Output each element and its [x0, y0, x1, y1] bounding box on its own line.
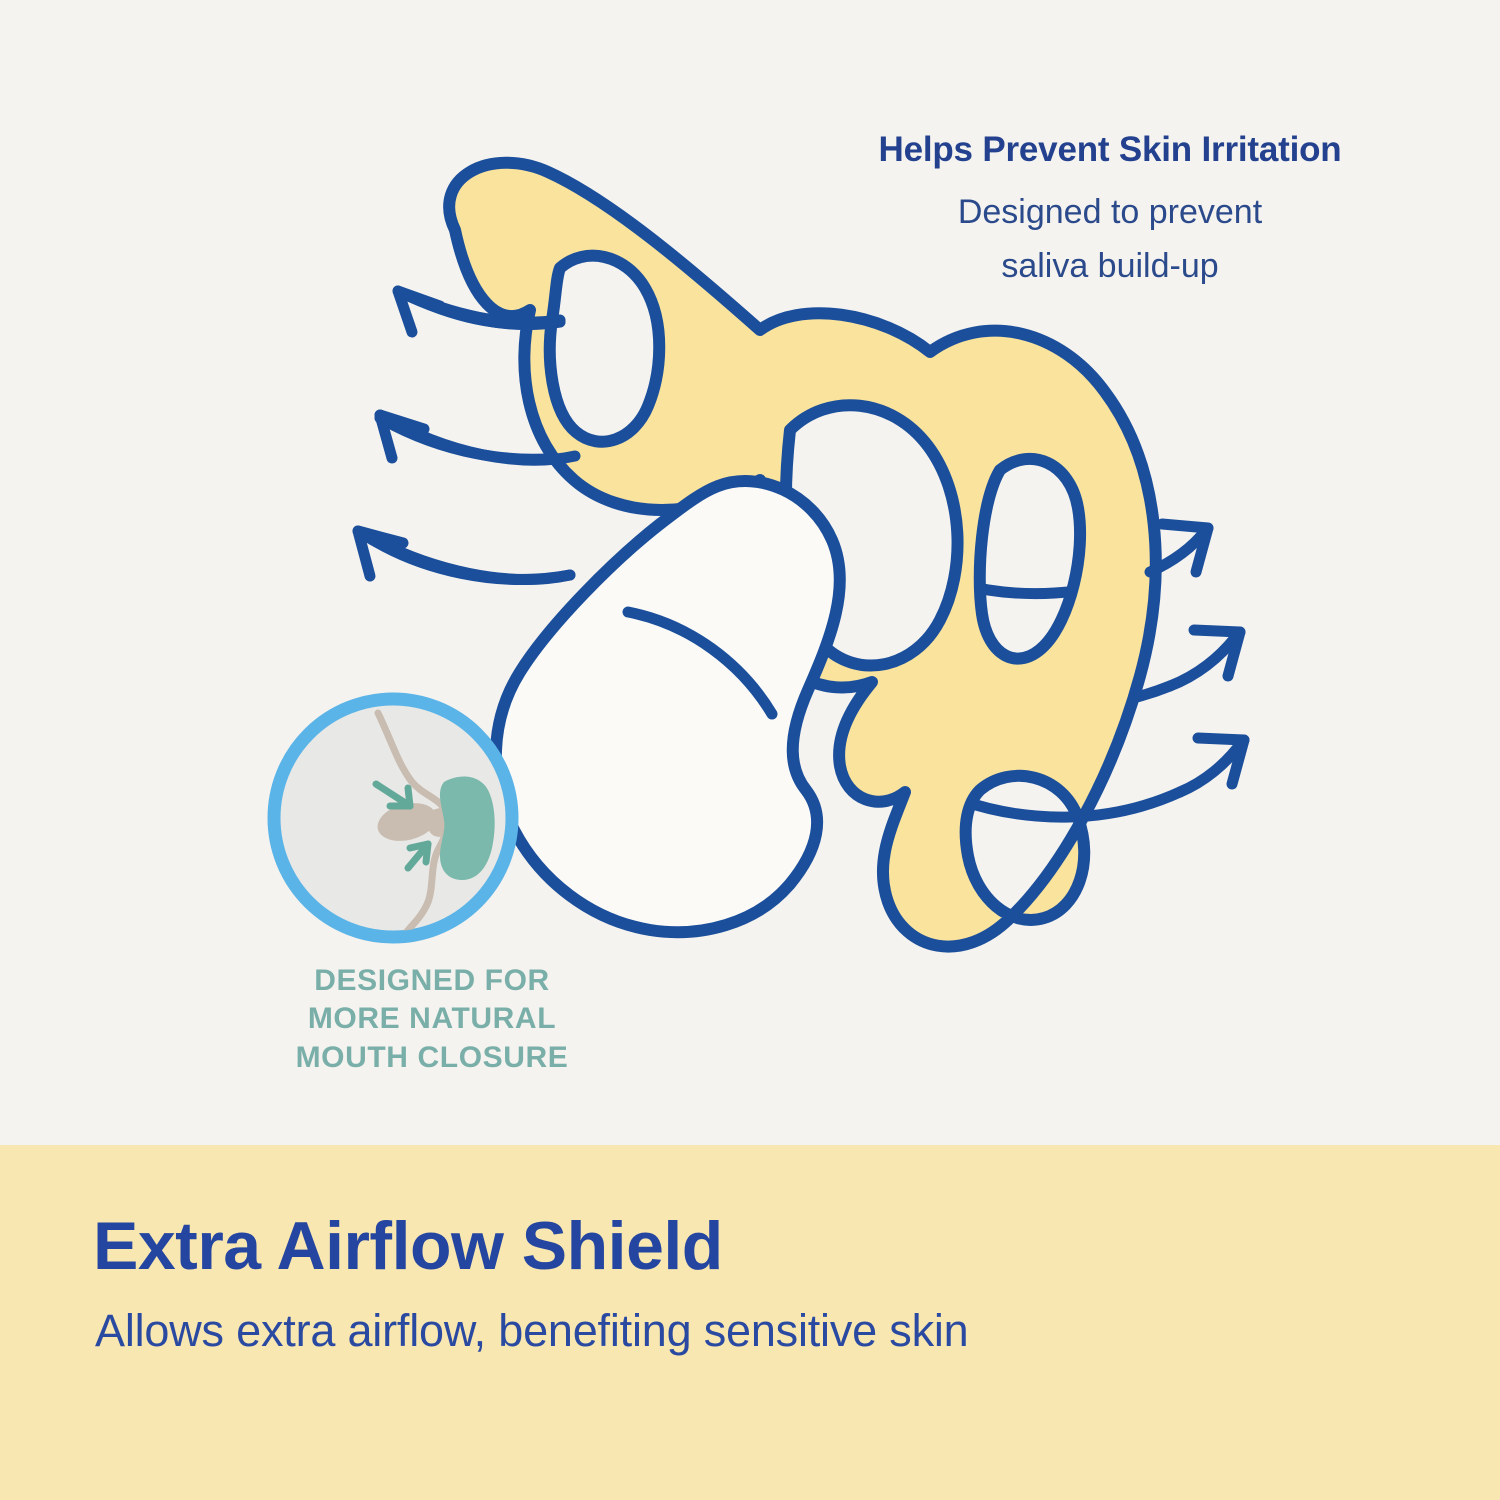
inset-caption-line-3: MOUTH CLOSURE: [232, 1039, 632, 1077]
bottom-banner: Extra Airflow Shield Allows extra airflo…: [0, 1145, 1500, 1500]
callout-body: Designed to prevent saliva build-up: [800, 185, 1420, 294]
inset-caption-line-1: DESIGNED FOR: [232, 962, 632, 1000]
callout-body-line-1: Designed to prevent: [800, 185, 1420, 239]
mouth-closure-inset: [274, 699, 512, 948]
banner-heading: Extra Airflow Shield: [93, 1207, 723, 1285]
product-infographic: Helps Prevent Skin Irritation Designed t…: [0, 0, 1500, 1500]
callout-skin-irritation: Helps Prevent Skin Irritation Designed t…: [800, 128, 1420, 294]
illustration-area: Helps Prevent Skin Irritation Designed t…: [0, 0, 1500, 1145]
inset-caption-line-2: MORE NATURAL: [232, 1000, 632, 1038]
callout-title: Helps Prevent Skin Irritation: [800, 128, 1420, 173]
inset-caption: DESIGNED FOR MORE NATURAL MOUTH CLOSURE: [232, 962, 632, 1077]
airflow-arrows-right: [1150, 524, 1244, 792]
banner-subheading: Allows extra airflow, benefiting sensiti…: [95, 1305, 969, 1357]
pacifier-teat: [496, 481, 840, 932]
callout-body-line-2: saliva build-up: [800, 239, 1420, 293]
